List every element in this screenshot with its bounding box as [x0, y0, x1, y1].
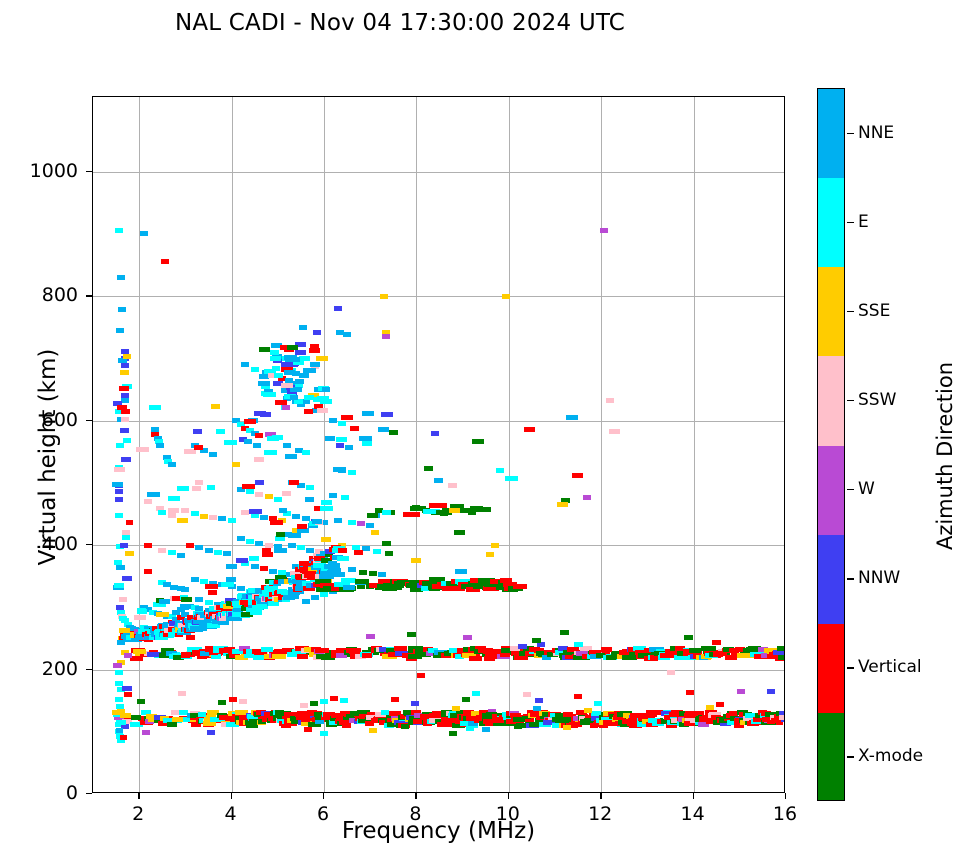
- data-point: [449, 508, 460, 513]
- data-point: [332, 572, 344, 577]
- data-point: [292, 514, 300, 519]
- data-point: [606, 398, 615, 403]
- data-point: [304, 395, 314, 400]
- x-tick-mark: [415, 793, 416, 799]
- data-point: [310, 344, 319, 349]
- data-point: [341, 415, 354, 420]
- data-point: [329, 493, 337, 498]
- data-point: [115, 513, 123, 518]
- data-point: [282, 491, 291, 496]
- data-point: [116, 328, 124, 333]
- data-point: [191, 577, 199, 582]
- data-point: [191, 511, 199, 516]
- data-point: [474, 507, 491, 512]
- data-point: [244, 439, 252, 444]
- colorbar-segment-x-mode[interactable]: [818, 713, 844, 801]
- data-point: [149, 405, 161, 410]
- data-point: [686, 690, 694, 695]
- data-point: [584, 708, 592, 713]
- data-point: [200, 514, 208, 519]
- data-point: [113, 663, 122, 668]
- data-point: [269, 569, 277, 574]
- data-point: [285, 454, 297, 459]
- data-point: [297, 528, 309, 533]
- data-point: [262, 548, 271, 553]
- colorbar-segment-nnw[interactable]: [818, 535, 844, 624]
- data-point: [322, 387, 330, 392]
- data-point: [601, 647, 612, 652]
- data-point: [281, 383, 293, 388]
- data-point: [156, 443, 164, 448]
- data-point: [218, 516, 226, 521]
- data-point: [120, 370, 128, 375]
- data-point: [264, 450, 277, 455]
- data-point: [261, 647, 273, 652]
- x-tick-mark: [138, 793, 139, 799]
- data-point: [209, 515, 217, 520]
- data-point: [523, 692, 531, 697]
- data-point: [524, 427, 535, 432]
- data-point: [123, 354, 131, 359]
- data-point: [424, 466, 433, 471]
- data-point: [689, 648, 701, 653]
- data-point: [218, 700, 226, 705]
- data-point: [563, 725, 571, 730]
- data-point: [289, 480, 298, 485]
- data-point: [380, 294, 388, 299]
- data-point: [258, 381, 270, 386]
- y-tick-label: 200: [0, 658, 78, 680]
- data-point: [417, 673, 425, 678]
- data-point: [411, 701, 419, 706]
- data-point: [144, 569, 152, 574]
- data-point: [253, 443, 261, 448]
- data-point: [294, 399, 303, 404]
- colorbar-segment-w[interactable]: [818, 446, 844, 535]
- data-point: [168, 550, 176, 555]
- x-tick-mark: [785, 793, 786, 799]
- data-point: [168, 496, 180, 501]
- colorbar-tick-mark: [847, 578, 854, 579]
- colorbar-segment-ssw[interactable]: [818, 356, 844, 445]
- x-tick-mark: [508, 793, 509, 799]
- colorbar-tick-mark: [847, 667, 854, 668]
- data-point: [491, 543, 499, 548]
- data-point: [186, 635, 195, 640]
- data-point: [290, 594, 299, 599]
- data-point: [466, 726, 474, 731]
- data-point: [134, 615, 146, 620]
- data-point: [600, 228, 608, 233]
- data-point: [144, 499, 152, 504]
- gridline-vertical: [509, 97, 510, 792]
- data-point: [382, 510, 390, 515]
- x-axis-label: Frequency (MHz): [92, 818, 785, 844]
- data-point: [343, 585, 355, 590]
- data-point: [371, 530, 379, 535]
- data-point: [265, 543, 273, 548]
- data-point: [407, 632, 416, 637]
- data-point: [119, 386, 130, 391]
- data-point: [270, 520, 283, 525]
- data-point: [341, 495, 349, 500]
- data-point: [126, 520, 134, 525]
- x-tick-mark: [693, 793, 694, 799]
- data-point: [265, 494, 273, 499]
- data-point: [455, 569, 467, 574]
- data-point: [255, 541, 263, 546]
- data-point: [338, 421, 346, 426]
- data-point: [288, 543, 296, 548]
- data-point: [348, 520, 356, 525]
- data-point: [337, 556, 349, 561]
- data-point: [378, 572, 386, 577]
- data-point: [226, 577, 236, 582]
- data-point: [116, 443, 124, 448]
- data-point: [304, 727, 312, 732]
- data-point: [115, 228, 123, 233]
- data-point: [180, 604, 190, 609]
- data-point: [329, 418, 337, 423]
- data-point: [369, 571, 377, 576]
- colorbar-tick-mark: [847, 222, 854, 223]
- data-point: [342, 723, 351, 728]
- data-point: [241, 362, 249, 367]
- data-point: [341, 578, 356, 583]
- data-point: [609, 429, 620, 434]
- data-point: [177, 486, 189, 491]
- data-point: [137, 608, 146, 613]
- data-point: [667, 670, 675, 675]
- data-point: [502, 294, 510, 299]
- data-point: [114, 583, 124, 588]
- data-point: [121, 457, 131, 462]
- y-tick-label: 1000: [0, 160, 78, 182]
- data-point: [472, 691, 480, 696]
- data-point: [777, 646, 785, 651]
- data-point: [312, 519, 322, 524]
- data-point: [306, 548, 314, 553]
- data-point: [297, 654, 309, 659]
- data-point: [283, 443, 291, 448]
- y-axis-label: Virtual height (km): [35, 257, 61, 657]
- data-point: [330, 563, 341, 568]
- data-point: [195, 597, 203, 602]
- data-point: [505, 476, 518, 481]
- ionogram-figure: NAL CADI - Nov 04 17:30:00 2024 UTC 0200…: [0, 0, 958, 857]
- data-point: [359, 570, 367, 575]
- data-point: [778, 655, 785, 660]
- data-point: [117, 275, 125, 280]
- data-point: [211, 654, 221, 659]
- data-point: [290, 387, 303, 392]
- data-point: [533, 706, 541, 711]
- data-point: [118, 307, 126, 312]
- data-point: [297, 545, 305, 550]
- data-point: [282, 405, 291, 410]
- colorbar-tick-label: E: [858, 212, 869, 232]
- data-point: [321, 537, 332, 542]
- data-point: [320, 731, 328, 736]
- data-point: [207, 730, 215, 735]
- data-point: [434, 478, 443, 483]
- data-point: [333, 467, 346, 472]
- data-point: [389, 430, 398, 435]
- data-point: [535, 698, 543, 703]
- data-point: [239, 699, 247, 704]
- data-point: [207, 485, 215, 490]
- colorbar-tick-label: NNW: [858, 568, 900, 588]
- data-point: [716, 702, 724, 707]
- data-point: [348, 470, 356, 475]
- data-point: [158, 548, 166, 553]
- data-point: [120, 735, 127, 740]
- data-point: [320, 699, 328, 704]
- data-point: [116, 728, 124, 733]
- data-point: [287, 357, 299, 362]
- x-tick-mark: [323, 793, 324, 799]
- data-point: [123, 438, 131, 443]
- data-point: [334, 518, 342, 523]
- data-point: [305, 497, 314, 502]
- data-point: [177, 518, 188, 523]
- data-point: [338, 548, 347, 553]
- data-point: [122, 686, 132, 691]
- data-point: [320, 592, 328, 597]
- data-point: [557, 502, 568, 507]
- data-point: [279, 508, 287, 513]
- data-point: [300, 703, 308, 708]
- data-point: [366, 523, 374, 528]
- data-point: [168, 513, 176, 518]
- data-point: [482, 727, 490, 732]
- data-point: [310, 701, 318, 706]
- data-point: [355, 579, 369, 584]
- colorbar-segment-e[interactable]: [818, 178, 844, 267]
- data-point: [205, 600, 213, 605]
- data-point: [518, 644, 527, 649]
- gridline-vertical: [139, 97, 140, 792]
- data-point: [566, 415, 578, 420]
- data-point: [574, 694, 582, 699]
- data-point: [228, 518, 236, 523]
- data-point: [130, 656, 143, 661]
- colorbar-tick-mark: [847, 489, 854, 490]
- data-point: [357, 521, 365, 526]
- data-point: [299, 325, 307, 330]
- data-point: [124, 692, 132, 697]
- data-point: [120, 713, 131, 718]
- data-point: [115, 681, 123, 686]
- data-point: [401, 724, 409, 729]
- data-point: [295, 350, 306, 355]
- colorbar-label: Azimuth Direction: [933, 306, 957, 606]
- data-point: [237, 586, 245, 591]
- data-point: [253, 655, 265, 660]
- data-point: [315, 648, 329, 653]
- gridline-vertical: [601, 97, 602, 792]
- data-point: [343, 332, 351, 337]
- data-point: [449, 731, 457, 736]
- data-point: [120, 428, 129, 433]
- data-point: [263, 392, 276, 397]
- gridline-horizontal: [93, 670, 784, 671]
- data-point: [205, 584, 218, 589]
- data-point: [737, 689, 745, 694]
- data-point: [125, 551, 135, 556]
- data-point: [469, 656, 482, 661]
- data-point: [255, 492, 263, 497]
- data-point: [224, 440, 236, 445]
- colorbar-tick-label: X-mode: [858, 746, 923, 766]
- data-point: [325, 436, 336, 441]
- data-point: [260, 412, 271, 417]
- data-point: [381, 412, 393, 417]
- data-point: [122, 535, 130, 540]
- data-point: [310, 362, 320, 367]
- data-point: [224, 582, 232, 587]
- data-point: [168, 462, 176, 467]
- data-point: [514, 724, 522, 729]
- data-point: [255, 480, 264, 485]
- data-point: [366, 634, 375, 639]
- colorbar-tick-label: Vertical: [858, 657, 922, 677]
- data-point: [186, 543, 194, 548]
- colorbar-tick-mark: [847, 400, 854, 401]
- data-point: [115, 489, 123, 494]
- data-point: [254, 457, 264, 462]
- data-point: [168, 508, 179, 513]
- data-point: [195, 545, 203, 550]
- data-point: [251, 564, 259, 569]
- data-point: [158, 510, 166, 515]
- data-point: [124, 653, 132, 658]
- colorbar-tick-mark: [847, 311, 854, 312]
- data-point: [236, 558, 248, 563]
- data-point: [120, 543, 127, 548]
- data-point: [232, 462, 240, 467]
- data-point: [259, 347, 270, 352]
- data-point: [147, 492, 160, 497]
- x-tick-mark: [231, 793, 232, 799]
- data-point: [161, 259, 169, 264]
- data-point: [270, 356, 280, 361]
- data-point: [133, 649, 146, 654]
- data-point: [249, 509, 262, 514]
- data-point: [167, 722, 177, 727]
- data-point: [116, 565, 125, 570]
- colorbar-segment-sse[interactable]: [818, 267, 844, 356]
- data-point: [706, 705, 714, 710]
- data-point: [260, 566, 268, 571]
- data-point: [142, 730, 150, 735]
- data-point: [354, 550, 363, 555]
- data-point: [454, 530, 465, 535]
- data-point: [119, 628, 130, 633]
- data-point: [156, 612, 169, 617]
- data-point: [117, 405, 127, 410]
- data-point: [194, 445, 202, 450]
- data-point: [205, 548, 213, 553]
- data-point: [367, 513, 378, 518]
- colorbar-tick-mark: [847, 133, 854, 134]
- data-point: [260, 515, 268, 520]
- data-point: [362, 653, 372, 658]
- data-point: [209, 452, 217, 457]
- data-point: [317, 408, 328, 413]
- data-point: [336, 437, 348, 442]
- data-point: [115, 497, 123, 502]
- data-point: [779, 715, 785, 720]
- data-point: [712, 640, 721, 645]
- data-point: [513, 584, 528, 589]
- colorbar-tick-label: W: [858, 479, 875, 499]
- data-point: [385, 551, 393, 556]
- data-point: [122, 576, 132, 581]
- data-point: [306, 485, 314, 490]
- data-point: [340, 698, 348, 703]
- data-point: [322, 506, 333, 511]
- data-point: [116, 720, 126, 725]
- data-point: [119, 597, 127, 602]
- data-point: [348, 567, 356, 572]
- data-point: [117, 640, 125, 645]
- data-point: [594, 701, 602, 706]
- colorbar-segment-nne[interactable]: [818, 89, 844, 178]
- data-point: [684, 635, 693, 640]
- data-point: [295, 379, 303, 384]
- data-point: [463, 635, 472, 640]
- data-point: [267, 436, 280, 441]
- data-point: [193, 429, 202, 434]
- data-point: [178, 691, 186, 696]
- data-point: [208, 590, 217, 595]
- data-point: [287, 345, 298, 350]
- data-point: [159, 599, 169, 604]
- data-point: [378, 427, 389, 432]
- data-point: [226, 564, 238, 569]
- data-point: [299, 356, 310, 361]
- data-point: [288, 533, 301, 538]
- plot-area[interactable]: [92, 96, 785, 793]
- data-point: [304, 409, 313, 414]
- data-point: [274, 548, 287, 553]
- data-point: [302, 450, 310, 455]
- colorbar-tick-mark: [847, 756, 854, 757]
- data-point: [144, 543, 152, 548]
- gridline-horizontal: [93, 172, 784, 173]
- data-point: [184, 449, 197, 454]
- data-point: [284, 370, 295, 375]
- data-point: [311, 595, 319, 600]
- data-point: [290, 395, 298, 400]
- data-point: [112, 482, 123, 487]
- data-point: [350, 426, 358, 431]
- data-point: [369, 728, 377, 733]
- data-point: [121, 363, 129, 368]
- data-point: [270, 350, 279, 355]
- colorbar-segment-vertical[interactable]: [818, 624, 844, 713]
- data-point: [359, 436, 371, 441]
- data-point: [373, 549, 381, 554]
- data-point: [121, 417, 129, 422]
- data-point: [115, 670, 123, 675]
- data-point: [462, 697, 470, 702]
- colorbar[interactable]: [817, 88, 845, 801]
- data-point: [496, 468, 504, 473]
- data-point: [211, 404, 221, 409]
- data-point: [336, 443, 344, 448]
